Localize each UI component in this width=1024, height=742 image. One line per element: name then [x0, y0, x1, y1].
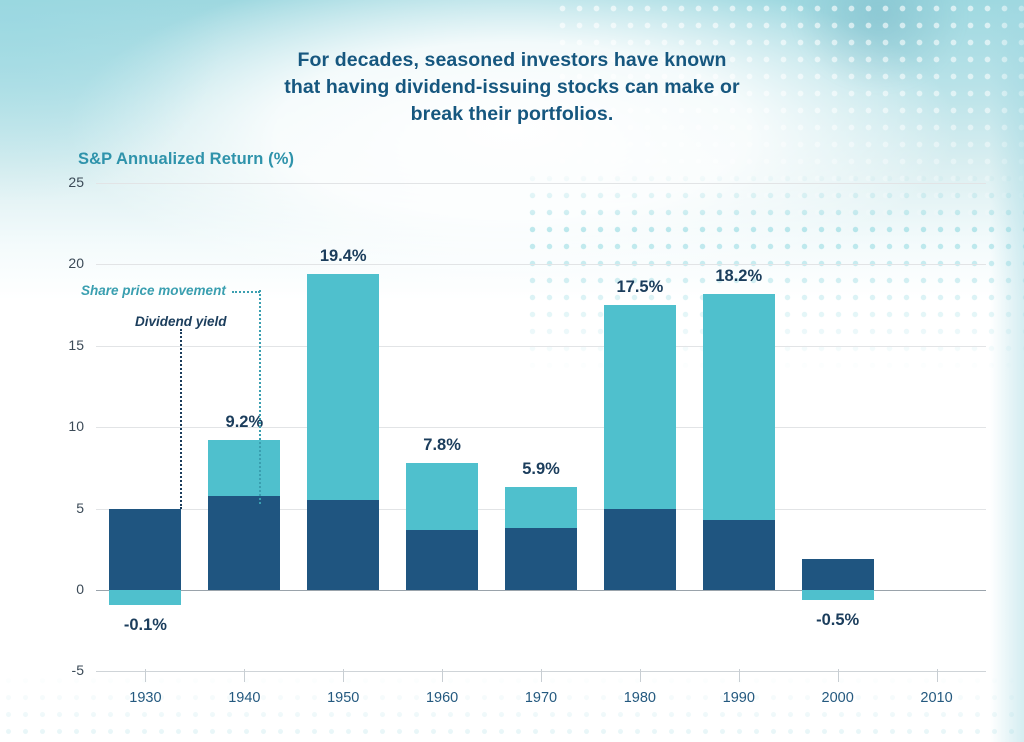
leader-line-share-vertical: [259, 290, 261, 504]
bar-2000[interactable]: [802, 0, 874, 742]
bar-1990[interactable]: [703, 0, 775, 742]
data-label-1960: 7.8%: [382, 436, 502, 455]
data-label-1930: -0.1%: [85, 616, 205, 635]
x-axis-label-1960: 1960: [402, 690, 482, 706]
x-tickmark-1950: [343, 669, 344, 682]
bar-segment-share-price-2000[interactable]: [802, 590, 874, 600]
x-axis-label-1930: 1930: [105, 690, 185, 706]
leader-line-dividend-vertical: [180, 329, 182, 509]
x-tickmark-1990: [739, 669, 740, 682]
legend-label-share-price: Share price movement: [81, 283, 226, 298]
bar-segment-dividend-1950[interactable]: [307, 500, 379, 590]
data-label-1950: 19.4%: [283, 247, 403, 266]
bar-segment-dividend-1940[interactable]: [208, 496, 280, 590]
data-label-1990: 18.2%: [679, 267, 799, 286]
bar-segment-dividend-1980[interactable]: [604, 509, 676, 590]
bar-segment-share-price-1960[interactable]: [406, 463, 478, 530]
x-tickmark-1960: [442, 669, 443, 682]
bar-1970[interactable]: [505, 0, 577, 742]
bar-segment-share-price-1940[interactable]: [208, 440, 280, 495]
bar-segment-dividend-1970[interactable]: [505, 528, 577, 590]
y-tick-label--5: -5: [50, 662, 84, 678]
x-tickmark-2000: [838, 669, 839, 682]
y-tick-label-20: 20: [50, 255, 84, 271]
data-label-1970: 5.9%: [481, 460, 601, 479]
legend-label-dividend-yield: Dividend yield: [135, 314, 227, 329]
y-tick-label-25: 25: [50, 174, 84, 190]
bar-1980[interactable]: [604, 0, 676, 742]
y-tick-label-5: 5: [50, 500, 84, 516]
bar-segment-share-price-1970[interactable]: [505, 487, 577, 528]
bar-segment-share-price-1950[interactable]: [307, 274, 379, 500]
bar-segment-share-price-1980[interactable]: [604, 305, 676, 509]
x-axis-label-2010: 2010: [897, 690, 977, 706]
y-tick-label-10: 10: [50, 418, 84, 434]
x-axis-label-1980: 1980: [600, 690, 680, 706]
x-axis-label-1950: 1950: [303, 690, 383, 706]
x-tickmark-1930: [145, 669, 146, 682]
bar-segment-dividend-2000[interactable]: [802, 559, 874, 590]
data-label-1940: 9.2%: [184, 413, 304, 432]
x-tickmark-1940: [244, 669, 245, 682]
bar-segment-share-price-1990[interactable]: [703, 294, 775, 520]
y-tick-label-0: 0: [50, 581, 84, 597]
x-axis-label-1990: 1990: [699, 690, 779, 706]
data-label-2000: -0.5%: [778, 611, 898, 630]
bar-1960[interactable]: [406, 0, 478, 742]
x-axis-label-2000: 2000: [798, 690, 878, 706]
bar-1950[interactable]: [307, 0, 379, 742]
bar-segment-dividend-1930[interactable]: [109, 509, 181, 590]
bar-1940[interactable]: [208, 0, 280, 742]
bar-segment-dividend-1990[interactable]: [703, 520, 775, 590]
x-tickmark-1980: [640, 669, 641, 682]
x-axis-label-1940: 1940: [204, 690, 284, 706]
leader-line-share-horizontal: [232, 291, 260, 293]
x-tickmark-1970: [541, 669, 542, 682]
bar-segment-dividend-1960[interactable]: [406, 530, 478, 590]
y-tick-label-15: 15: [50, 337, 84, 353]
x-tickmark-2010: [937, 669, 938, 682]
bar-chart: S&P Annualized Return (%) 2520151050-5 -…: [0, 0, 1024, 742]
x-axis-label-1970: 1970: [501, 690, 581, 706]
